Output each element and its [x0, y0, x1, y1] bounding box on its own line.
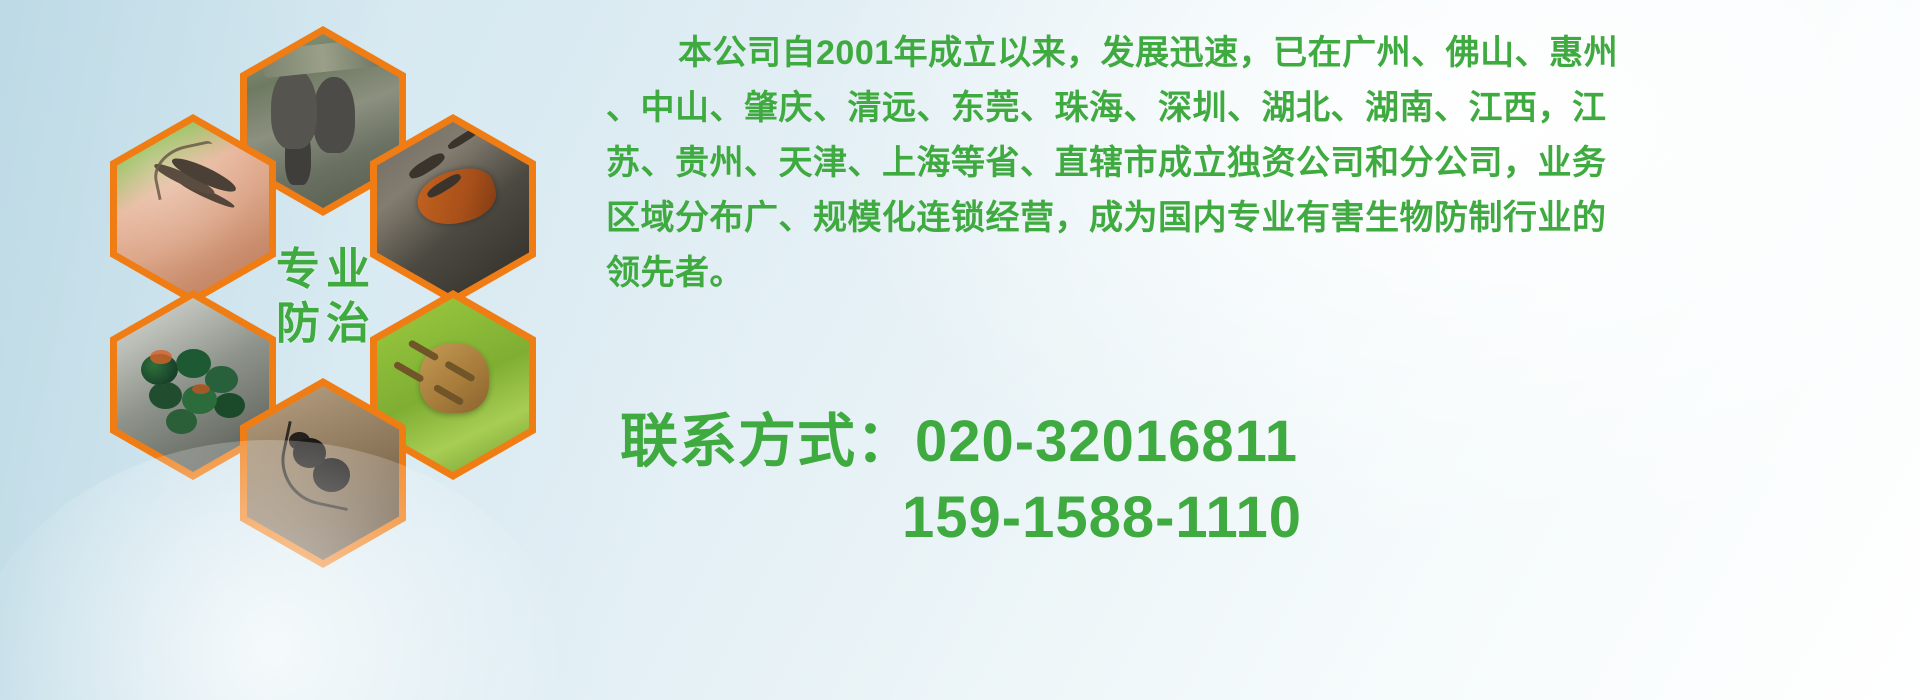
logo-slogan-line-1: 专业 [270, 243, 376, 297]
company-description: 本公司自2001年成立以来，发展迅速，已在广州、佛山、惠州 、中山、肇庆、清远、… [606, 26, 1856, 301]
phone-secondary[interactable]: 159-1588-1110 [620, 480, 1880, 556]
description-line-5: 领先者。 [606, 246, 1856, 301]
description-line-1-text: 本公司自2001年成立以来，发展迅速，已在广州、佛山、惠州 [678, 34, 1618, 72]
phone-primary[interactable]: 020-32016811 [915, 409, 1298, 474]
promo-banner: 专业 防治 本公司自2001年成立以来，发展迅速，已在广州、佛山、惠州 、中山、… [0, 0, 1920, 700]
description-line-4: 区域分布广、规模化连锁经营，成为国内专业有害生物防制行业的 [606, 191, 1856, 246]
contact-primary-line: 联系方式：020-32016811 [620, 404, 1880, 480]
description-line-2: 、中山、肇庆、清远、东莞、珠海、深圳、湖北、湖南、江西，江 [606, 81, 1856, 136]
logo-slogan-line-2: 防治 [270, 297, 376, 351]
hex-photo-cluster: 专业 防治 [88, 8, 588, 568]
ant-photo [247, 386, 399, 560]
contact-block: 联系方式：020-32016811 159-1588-1110 [620, 404, 1880, 556]
contact-label: 联系方式： [620, 409, 915, 474]
description-line-3: 苏、贵州、天津、上海等省、直辖市成立独资公司和分公司，业务 [606, 136, 1856, 191]
logo-slogan: 专业 防治 [240, 202, 406, 392]
description-line-1: 本公司自2001年成立以来，发展迅速，已在广州、佛山、惠州 [606, 26, 1856, 81]
